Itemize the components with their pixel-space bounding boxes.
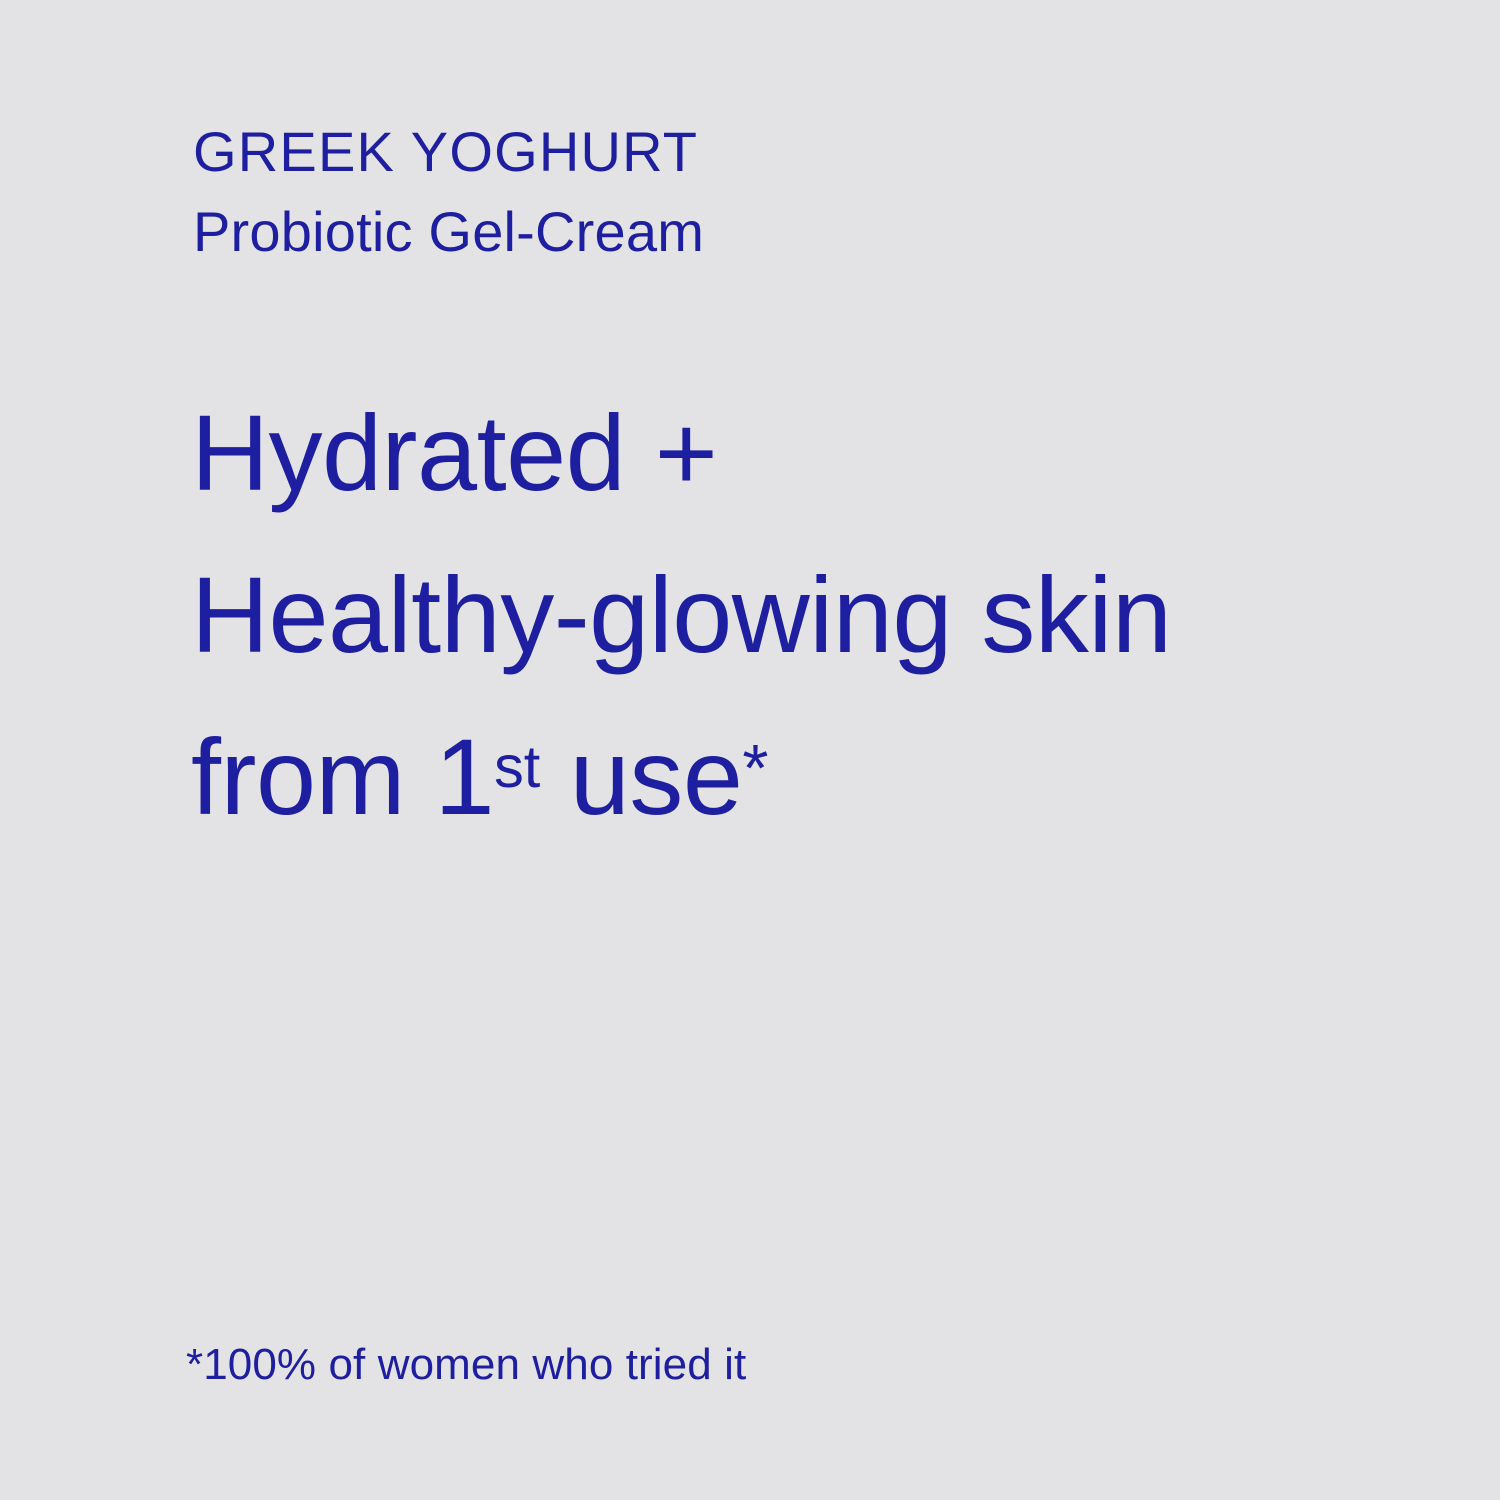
product-range-label: GREEK YOGHURT [193, 112, 1393, 192]
product-claim-poster: GREEK YOGHURT Probiotic Gel-Cream Hydrat… [0, 0, 1500, 1500]
product-type-label: Probiotic Gel-Cream [193, 192, 1393, 272]
headline-line-2: Healthy-glowing skin [191, 534, 1451, 696]
headline-line-3-prefix: from 1 [191, 716, 494, 837]
headline-line-3-middle: use [540, 716, 742, 837]
product-name-block: GREEK YOGHURT Probiotic Gel-Cream [193, 112, 1393, 272]
footnote-text: *100% of women who tried it [186, 1337, 746, 1393]
headline-line-3: from 1st use* [191, 696, 1451, 875]
headline-block: Hydrated + Healthy-glowing skin from 1st… [191, 372, 1451, 875]
ordinal-suffix-superscript: st [494, 733, 540, 800]
headline-line-1: Hydrated + [191, 372, 1451, 534]
footnote-marker-asterisk: * [742, 731, 768, 806]
